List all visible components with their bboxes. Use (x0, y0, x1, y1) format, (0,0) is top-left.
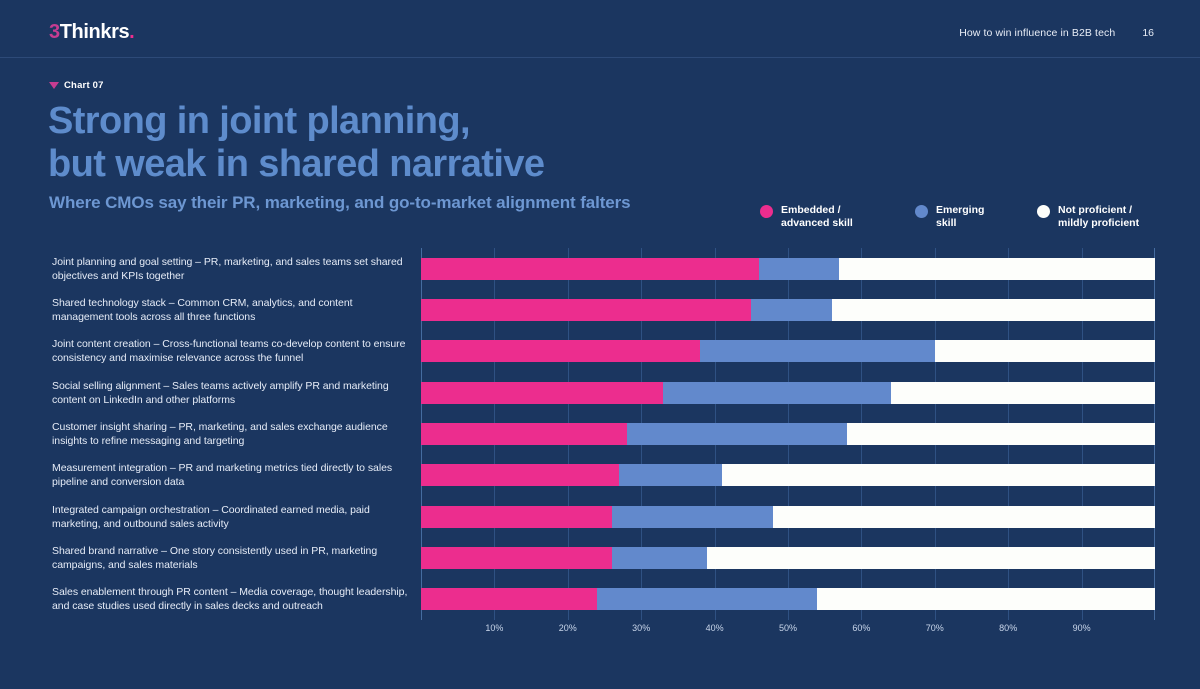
bar-segment-not-proficient[interactable] (817, 588, 1155, 610)
page-number: 16 (1142, 27, 1154, 39)
bar-segment-not-proficient[interactable] (839, 258, 1155, 280)
chart-rows: Joint planning and goal setting – PR, ma… (45, 248, 1155, 620)
stacked-bar (421, 588, 1155, 610)
x-axis-tick-label: 20% (559, 623, 577, 633)
bar-segment-not-proficient[interactable] (847, 423, 1155, 445)
table-row: Shared brand narrative – One story consi… (45, 537, 1155, 578)
bar-segment-emerging[interactable] (700, 340, 935, 362)
table-row: Sales enablement through PR content – Me… (45, 579, 1155, 620)
chart-x-axis: 10%20%30%40%50%60%70%80%90% (421, 620, 1155, 642)
bar-segment-emerging[interactable] (759, 258, 840, 280)
bar-row-label: Shared brand narrative – One story consi… (52, 544, 414, 572)
chart-legend: Embedded / advanced skill Emerging skill… (760, 204, 1160, 240)
stacked-bar (421, 464, 1155, 486)
stacked-bar (421, 547, 1155, 569)
bar-segment-emerging[interactable] (663, 382, 891, 404)
bar-segment-embedded[interactable] (421, 506, 612, 528)
bar-segment-not-proficient[interactable] (722, 464, 1155, 486)
logo-dot: . (129, 21, 134, 43)
bar-segment-embedded[interactable] (421, 382, 663, 404)
page-header: 3Thinkrs. How to win influence in B2B te… (0, 0, 1200, 58)
stacked-bar-chart: Joint planning and goal setting – PR, ma… (45, 248, 1155, 620)
legend-swatch-pink-icon (760, 205, 773, 218)
legend-item-embedded[interactable]: Embedded / advanced skill (760, 204, 853, 229)
stacked-bar (421, 423, 1155, 445)
bar-segment-emerging[interactable] (619, 464, 722, 486)
table-row: Social selling alignment – Sales teams a… (45, 372, 1155, 413)
legend-item-not-proficient[interactable]: Not proficient / mildly proficient (1037, 204, 1139, 229)
table-row: Shared technology stack – Common CRM, an… (45, 289, 1155, 330)
bar-segment-not-proficient[interactable] (707, 547, 1155, 569)
logo-name: Thinkrs (60, 21, 129, 43)
chart-eyebrow: Chart 07 (49, 80, 104, 91)
stacked-bar (421, 258, 1155, 280)
chart-eyebrow-label: Chart 07 (64, 80, 104, 91)
legend-item-emerging[interactable]: Emerging skill (915, 204, 984, 229)
x-axis-tick-label: 40% (706, 623, 724, 633)
table-row: Measurement integration – PR and marketi… (45, 455, 1155, 496)
bar-row-label: Sales enablement through PR content – Me… (52, 585, 414, 613)
bar-segment-emerging[interactable] (751, 299, 832, 321)
x-axis-tick-label: 50% (779, 623, 797, 633)
table-row: Joint planning and goal setting – PR, ma… (45, 248, 1155, 289)
bar-row-label: Social selling alignment – Sales teams a… (52, 379, 414, 407)
bar-segment-embedded[interactable] (421, 340, 700, 362)
bar-segment-embedded[interactable] (421, 588, 597, 610)
bar-segment-embedded[interactable] (421, 423, 627, 445)
bar-segment-emerging[interactable] (612, 547, 707, 569)
header-meta: How to win influence in B2B tech 16 (959, 27, 1154, 39)
bar-segment-emerging[interactable] (627, 423, 847, 445)
bar-segment-not-proficient[interactable] (832, 299, 1155, 321)
brand-logo[interactable]: 3Thinkrs. (49, 21, 134, 44)
bar-segment-embedded[interactable] (421, 299, 751, 321)
bar-segment-not-proficient[interactable] (891, 382, 1155, 404)
bar-row-label: Integrated campaign orchestration – Coor… (52, 503, 414, 531)
triangle-marker-icon (49, 82, 59, 89)
legend-label-not-proficient: Not proficient / mildly proficient (1058, 204, 1139, 229)
legend-swatch-white-icon (1037, 205, 1050, 218)
bar-segment-embedded[interactable] (421, 547, 612, 569)
bar-row-label: Shared technology stack – Common CRM, an… (52, 296, 414, 324)
document-title: How to win influence in B2B tech (959, 27, 1115, 39)
x-axis-tick-label: 30% (632, 623, 650, 633)
bar-segment-embedded[interactable] (421, 464, 619, 486)
logo-three-glyph: 3 (49, 21, 60, 43)
legend-swatch-blue-icon (915, 205, 928, 218)
bar-segment-embedded[interactable] (421, 258, 759, 280)
legend-label-embedded: Embedded / advanced skill (781, 204, 853, 229)
legend-label-emerging: Emerging skill (936, 204, 984, 229)
table-row: Customer insight sharing – PR, marketing… (45, 413, 1155, 454)
bar-segment-emerging[interactable] (612, 506, 773, 528)
bar-row-label: Measurement integration – PR and marketi… (52, 461, 414, 489)
bar-segment-emerging[interactable] (597, 588, 817, 610)
table-row: Integrated campaign orchestration – Coor… (45, 496, 1155, 537)
page-subtitle: Where CMOs say their PR, marketing, and … (49, 193, 631, 213)
x-axis-tick-label: 90% (1073, 623, 1091, 633)
x-axis-tick-label: 10% (485, 623, 503, 633)
bar-segment-not-proficient[interactable] (935, 340, 1155, 362)
slide-page: 3Thinkrs. How to win influence in B2B te… (0, 0, 1200, 689)
x-axis-tick-label: 60% (852, 623, 870, 633)
bar-row-label: Joint planning and goal setting – PR, ma… (52, 255, 414, 283)
page-title: Strong in joint planning, but weak in sh… (48, 100, 544, 186)
x-axis-tick-label: 80% (999, 623, 1017, 633)
stacked-bar (421, 340, 1155, 362)
bar-row-label: Customer insight sharing – PR, marketing… (52, 420, 414, 448)
bar-row-label: Joint content creation – Cross-functiona… (52, 337, 414, 365)
stacked-bar (421, 382, 1155, 404)
bar-segment-not-proficient[interactable] (773, 506, 1155, 528)
x-axis-tick-label: 70% (926, 623, 944, 633)
table-row: Joint content creation – Cross-functiona… (45, 331, 1155, 372)
stacked-bar (421, 299, 1155, 321)
stacked-bar (421, 506, 1155, 528)
